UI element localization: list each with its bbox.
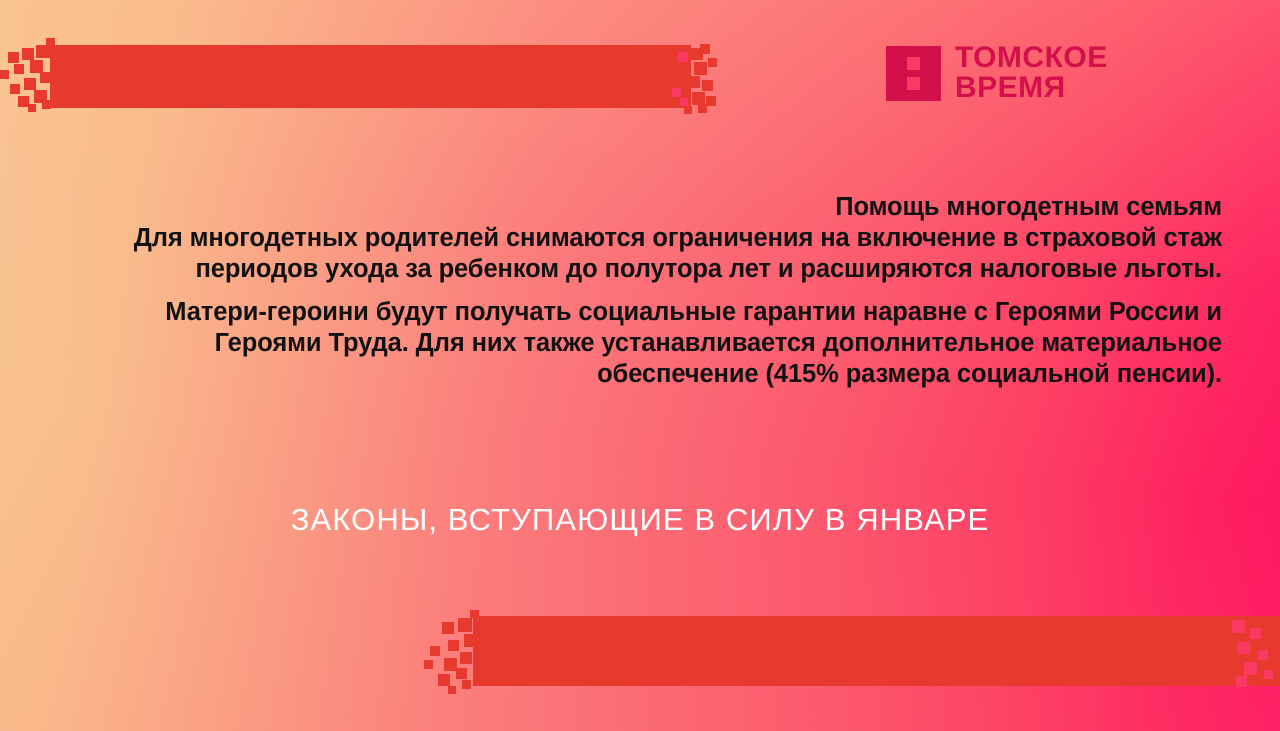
bottom-banner-bar xyxy=(473,616,1280,686)
logo-wordmark-line-1: ТОМСКОЕ xyxy=(955,43,1108,73)
logo-mark-square-bottom xyxy=(907,77,920,90)
slide-canvas: ТОМСКОЕ ВРЕМЯ Помощь многодетным семьям … xyxy=(0,0,1280,731)
slide-headline: ЗАКОНЫ, ВСТУПАЮЩИЕ В СИЛУ В ЯНВАРЕ xyxy=(0,502,1280,538)
logo-mark-square-top xyxy=(907,57,920,70)
logo-wordmark: ТОМСКОЕ ВРЕМЯ xyxy=(955,43,1108,103)
body-copy: Помощь многодетным семьям Для многодетны… xyxy=(132,192,1222,390)
top-banner-bar xyxy=(50,45,691,108)
channel-logo: ТОМСКОЕ ВРЕМЯ xyxy=(886,43,1108,103)
body-copy-spacer xyxy=(132,285,1222,297)
body-copy-lead: Помощь многодетным семьям xyxy=(132,192,1222,223)
body-copy-paragraph-1: Для многодетных родителей снимаются огра… xyxy=(132,223,1222,285)
logo-mark-icon xyxy=(886,46,941,101)
logo-wordmark-line-2: ВРЕМЯ xyxy=(955,73,1108,103)
body-copy-paragraph-2: Матери-героини будут получать социальные… xyxy=(132,297,1222,390)
